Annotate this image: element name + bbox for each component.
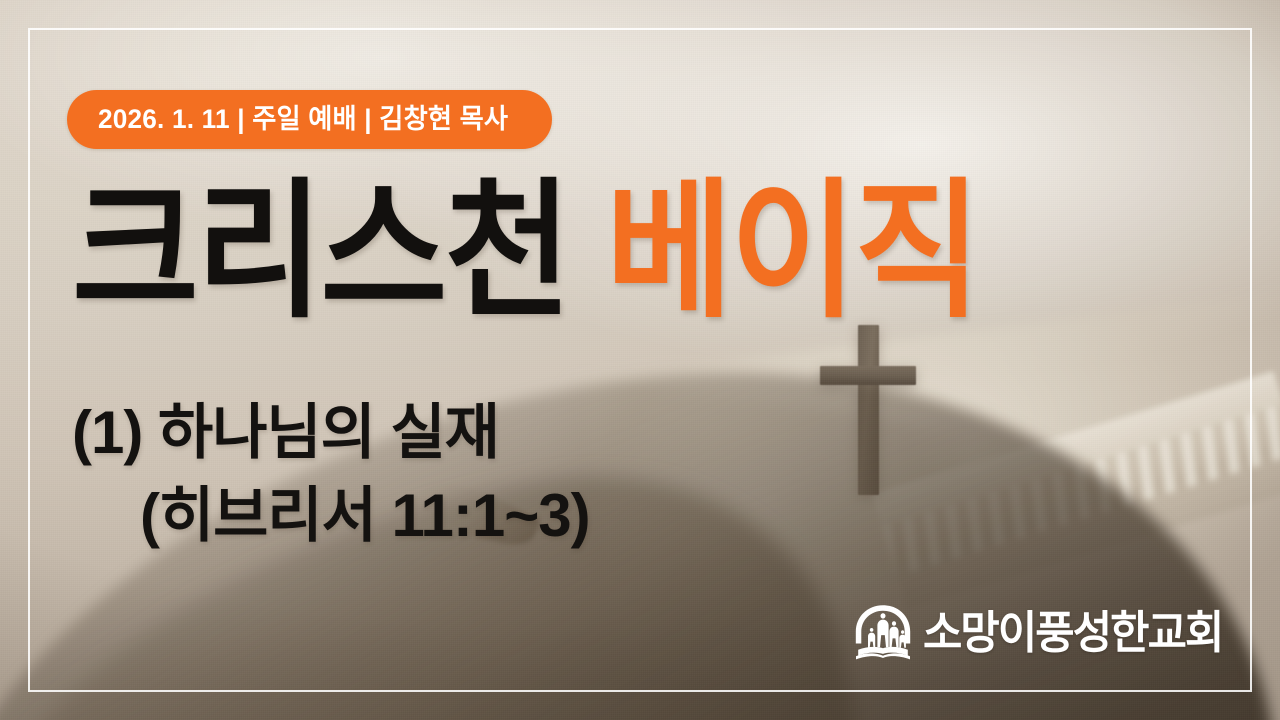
slide-content: 2026. 1. 11 | 주일 예배 | 김창현 목사 크리스천 베이직 (1… — [0, 0, 1280, 720]
church-family-arch-bible-icon — [853, 603, 913, 661]
series-title-accent: 베이직 — [606, 176, 979, 326]
service-info-badge: 2026. 1. 11 | 주일 예배 | 김창현 목사 — [67, 90, 552, 149]
series-title: 크리스천 베이직 — [72, 176, 1011, 326]
sermon-subtitle: (1) 하나님의 실재 (히브리서 11:1~3) — [72, 392, 590, 558]
sermon-topic-line: (1) 하나님의 실재 — [72, 399, 499, 466]
service-info-text: 2026. 1. 11 | 주일 예배 | 김창현 목사 — [98, 106, 508, 133]
sermon-title-slide: 2026. 1. 11 | 주일 예배 | 김창현 목사 크리스천 베이직 (1… — [0, 0, 1280, 720]
church-logo: 소망이풍성한교회 — [853, 603, 1238, 661]
series-title-primary: 크리스천 — [72, 176, 569, 326]
sermon-scripture-line: (히브리서 11:1~3) — [72, 475, 590, 558]
church-name: 소망이풍성한교회 — [923, 610, 1222, 655]
